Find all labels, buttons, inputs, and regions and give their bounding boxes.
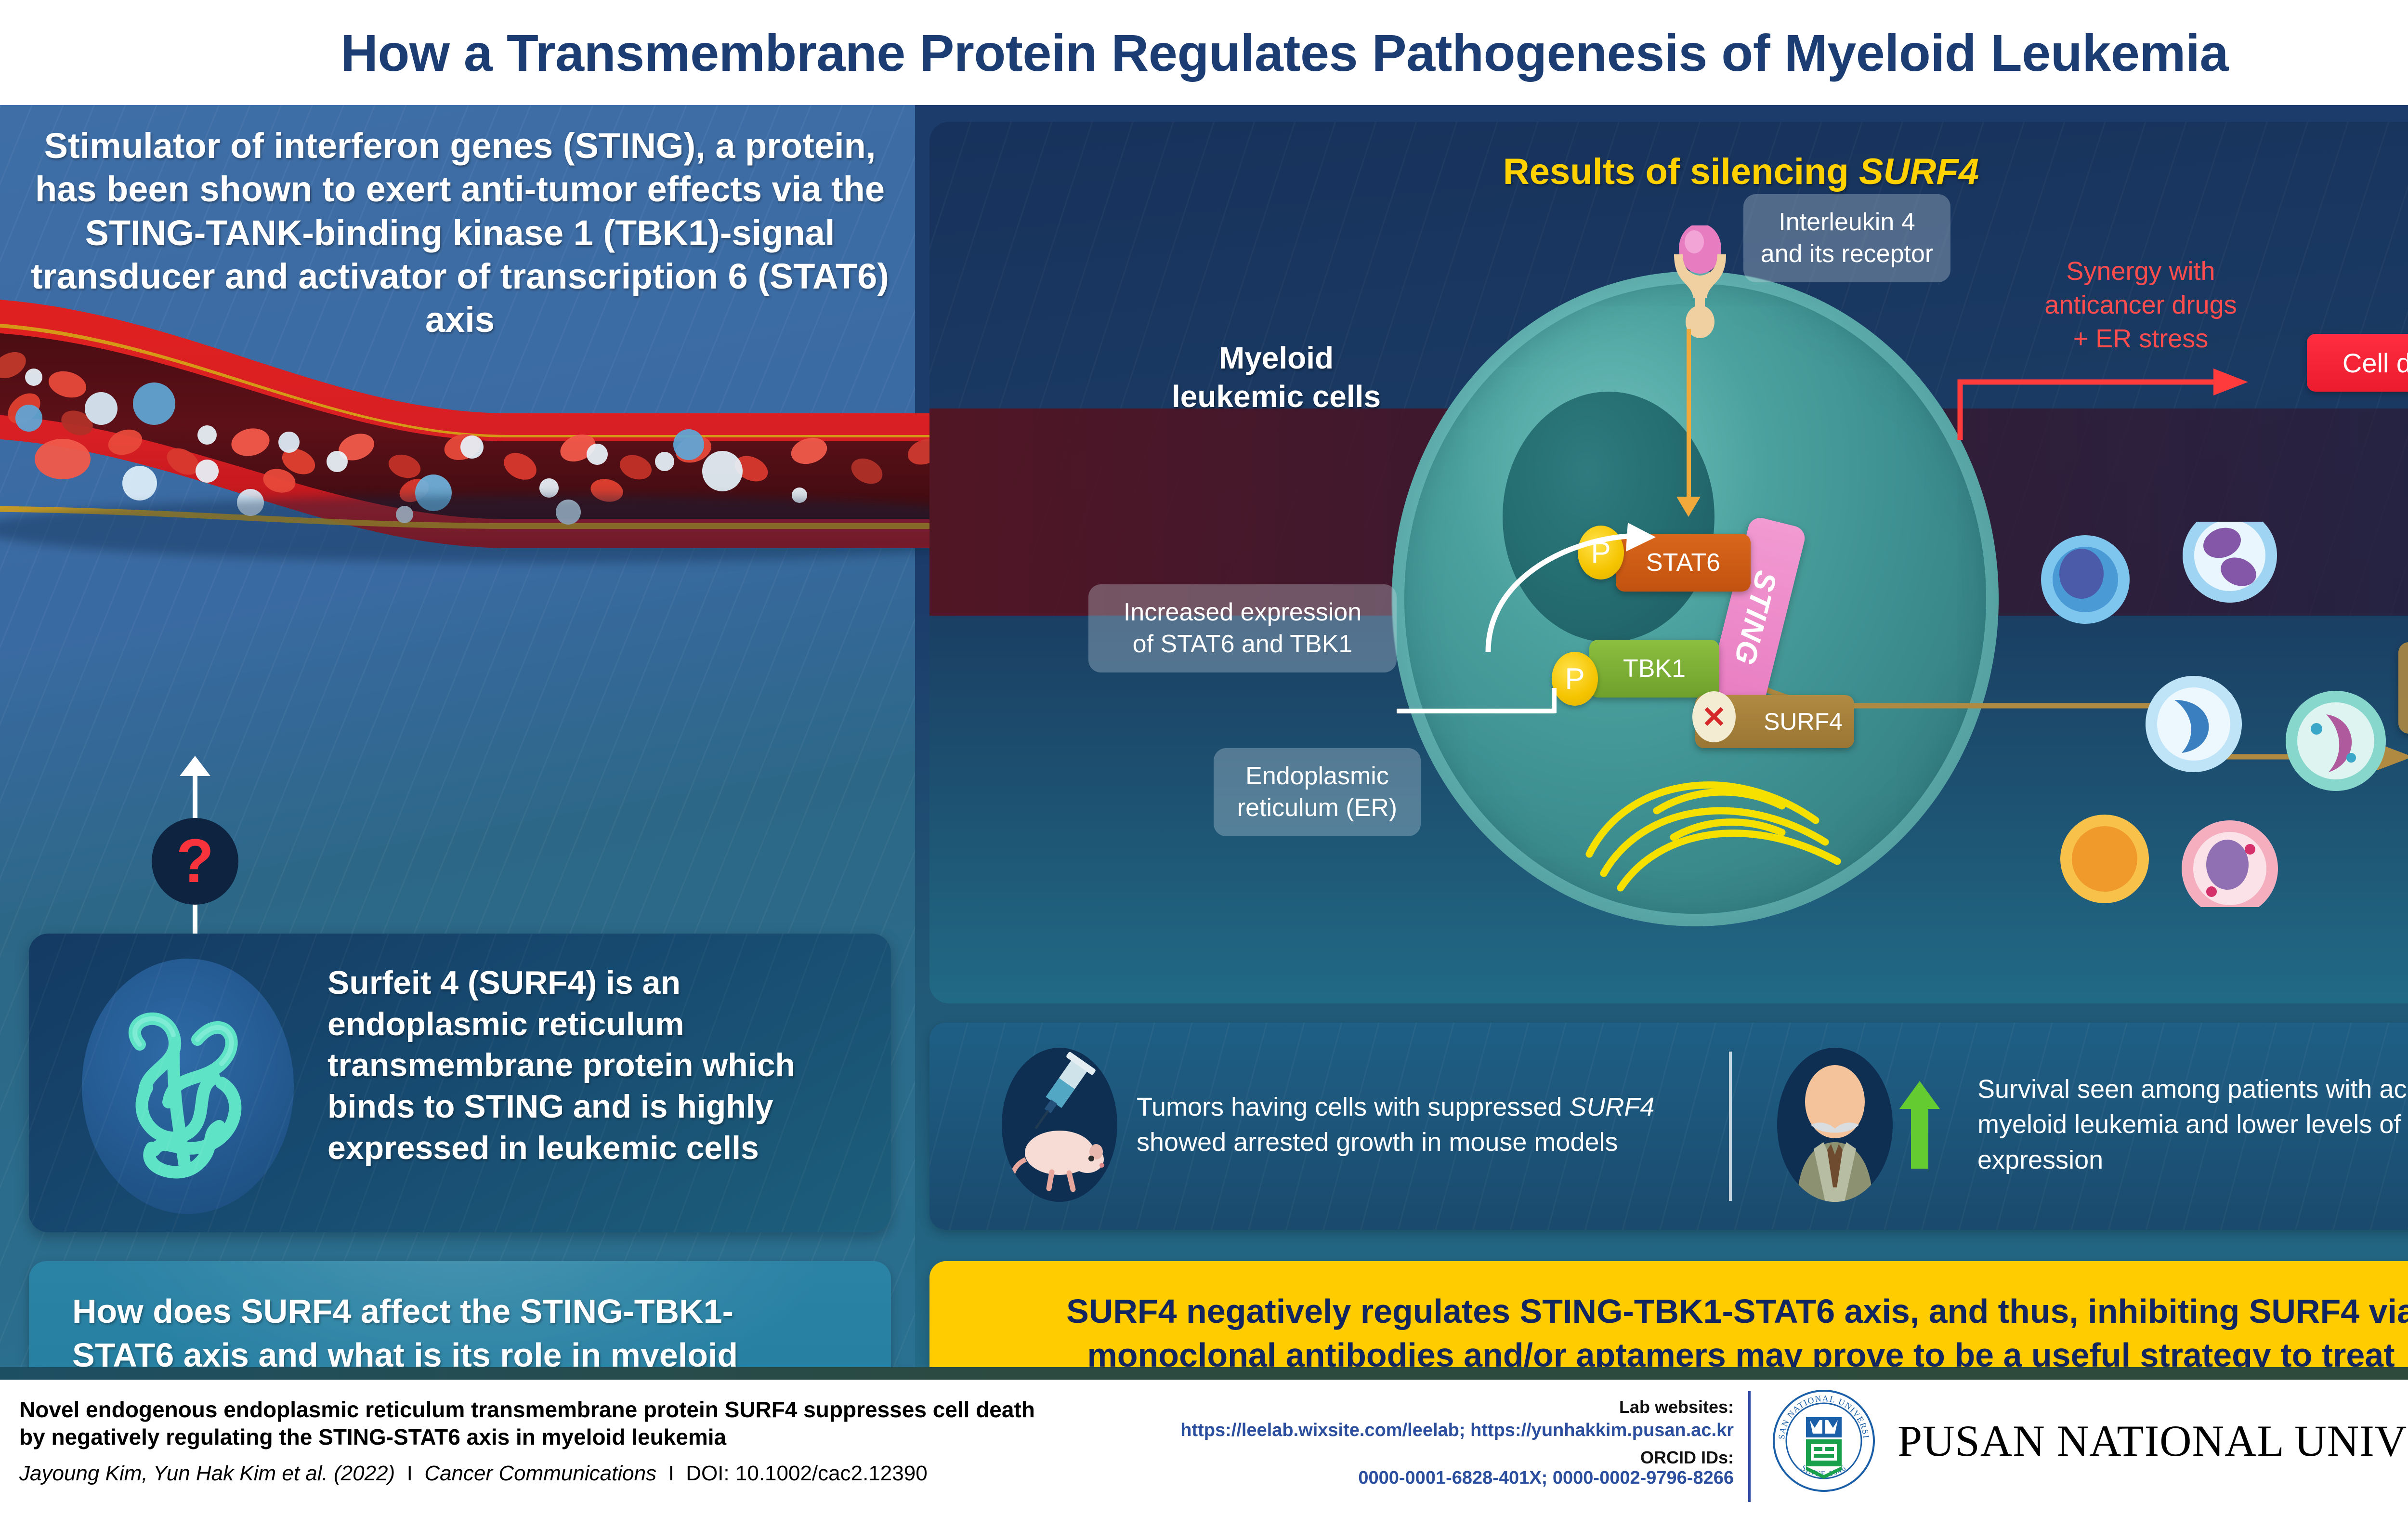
mouse-evidence-text: Tumors having cells with suppressed SURF… [1137, 1090, 1714, 1160]
question-mark-badge: ? [152, 818, 238, 905]
mouse-evidence-post: showed arrested growth in mouse models [1137, 1128, 1618, 1157]
citation-separator-1: I [407, 1462, 413, 1485]
il4-receptor-icon [1657, 225, 1743, 346]
differentiated-blood-cells-cluster [2028, 522, 2408, 907]
syringe-icon [1022, 1051, 1096, 1138]
cell-death-box: Cell death [2307, 334, 2408, 392]
mouse-evidence-gene: SURF4 [1569, 1093, 1654, 1121]
mouse-with-syringe-icon [1002, 1048, 1117, 1202]
evidence-divider [1729, 1052, 1732, 1201]
synergy-line-3: + ER stress [1996, 322, 2285, 356]
paper-title: Novel endogenous endoplasmic reticulum t… [19, 1396, 1060, 1451]
myeloid-differentiation-box: Myeloiddifferentiation [2398, 642, 2408, 734]
synergy-line-2: anticancer drugs [1996, 288, 2285, 322]
paper-authors: Jayoung Kim, Yun Hak Kim et al. (2022) [19, 1462, 395, 1485]
evidence-panel: Tumors having cells with suppressed SURF… [929, 1023, 2408, 1230]
lab-websites-label: Lab websites: [1079, 1397, 1734, 1417]
myeloid-cells-label: Myeloidleukemic cells [1108, 339, 1445, 416]
university-name: PUSAN NATIONAL UNIVERSITY [1898, 1415, 2408, 1466]
patient-evidence-post: expression [1977, 1146, 2103, 1174]
patient-evidence-pre: Survival seen among patients with acute … [1977, 1075, 2408, 1139]
vessel-shadow [0, 495, 1088, 563]
surf4-protein-box: ✕ SURF4 [1695, 695, 1854, 748]
title-bar: How a Transmembrane Protein Regulates Pa… [0, 0, 2408, 105]
patient-evidence-item: Survival seen among patients with acute … [1777, 1048, 2408, 1202]
paper-doi: DOI: 10.1002/cac2.12390 [686, 1462, 927, 1485]
surf4-definition-card: Surfeit 4 (SURF4) is an endoplasmic reti… [29, 934, 891, 1232]
citation-block: Novel endogenous endoplasmic reticulum t… [19, 1396, 1060, 1486]
nuclear-translocation-arrow [1469, 507, 1671, 666]
il4-label-chip: Interleukin 4and its receptor [1743, 194, 1950, 282]
endoplasmic-reticulum-icon [1575, 734, 1873, 893]
conclusion-banner: SURF4 negatively regulates STING-TBK1-ST… [929, 1261, 2408, 1367]
research-question-text: How does SURF4 affect the STING-TBK1-STA… [29, 1290, 809, 1368]
links-block: Lab websites: https://leelab.wixsite.com… [1079, 1397, 1734, 1489]
footer: Novel endogenous endoplasmic reticulum t… [0, 1380, 2408, 1515]
neutrophil-cell-2 [2183, 522, 2277, 603]
il4-signal-arrow [1687, 329, 1691, 500]
survival-increase-arrow-icon [1898, 1079, 1942, 1171]
mouse-evidence-pre: Tumors having cells with suppressed [1137, 1093, 1569, 1121]
elderly-patient-icon [1777, 1048, 1893, 1202]
monocyte-cell [2146, 676, 2242, 772]
patient-evidence-text: Survival seen among patients with acute … [1977, 1072, 2408, 1178]
surf4-protein-icon [101, 991, 275, 1189]
diagram-title-gene: SURF4 [1859, 151, 1979, 192]
citation-separator-2: I [668, 1462, 674, 1485]
surf4-silenced-cross-icon: ✕ [1692, 691, 1736, 742]
paper-citation: Jayoung Kim, Yun Hak Kim et al. (2022) I… [19, 1462, 1060, 1486]
er-label-chip: Endoplasmicreticulum (ER) [1214, 748, 1421, 836]
diagram-title: Results of silencing SURF4 [929, 151, 2408, 193]
increased-expression-chip: Increased expressionof STAT6 and TBK1 [1088, 584, 1397, 672]
lab-websites-link[interactable]: https://leelab.wixsite.com/leelab; https… [1079, 1420, 1734, 1441]
infographic-canvas: Stimulator of interferon genes (STING), … [0, 105, 2408, 1367]
eosinophil-cell [2060, 815, 2149, 903]
surf4-definition-text: Surfeit 4 (SURF4) is an endoplasmic reti… [327, 962, 867, 1169]
paper-journal: Cancer Communications [424, 1462, 656, 1485]
footer-divider-rule [0, 1367, 2408, 1380]
orcid-label: ORCID IDs: [1079, 1448, 1734, 1468]
diagram-title-prefix: Results of silencing [1503, 151, 1859, 192]
research-question-card: How does SURF4 affect the STING-TBK1-STA… [29, 1261, 891, 1367]
mechanism-diagram-panel: Results of silencing SURF4 Myeloidleukem… [929, 122, 2408, 1003]
mouse-avatar [1002, 1048, 1117, 1202]
protein-blob-background [82, 959, 294, 1214]
conclusion-text: SURF4 negatively regulates STING-TBK1-ST… [975, 1290, 2408, 1368]
synergy-line-1: Synergy with [1996, 254, 2285, 288]
macrophage-cell [2286, 691, 2386, 791]
orcid-ids[interactable]: 0000-0001-6828-401X; 0000-0002-9796-8266 [1079, 1468, 1734, 1489]
mouse-evidence-item: Tumors having cells with suppressed SURF… [1002, 1048, 1714, 1202]
pusan-national-university-logo-icon: PUSAN NATIONAL UNIVERSITY SINCE 1946 [1772, 1389, 1875, 1492]
increased-expression-line-v [1552, 688, 1557, 713]
footer-vertical-divider [1748, 1391, 1751, 1502]
page-title: How a Transmembrane Protein Regulates Pa… [340, 23, 2228, 83]
university-block: PUSAN NATIONAL UNIVERSITY SINCE 1946 PUS… [1772, 1389, 2408, 1492]
increased-expression-line-h [1397, 709, 1556, 713]
synergy-annotation: Synergy with anticancer drugs + ER stres… [1996, 254, 2285, 356]
neutrophil-cell-1 [2041, 535, 2130, 624]
patient-avatar [1777, 1048, 1893, 1202]
basophil-cell [2182, 820, 2278, 907]
surf4-protein-label: SURF4 [1764, 708, 1843, 736]
